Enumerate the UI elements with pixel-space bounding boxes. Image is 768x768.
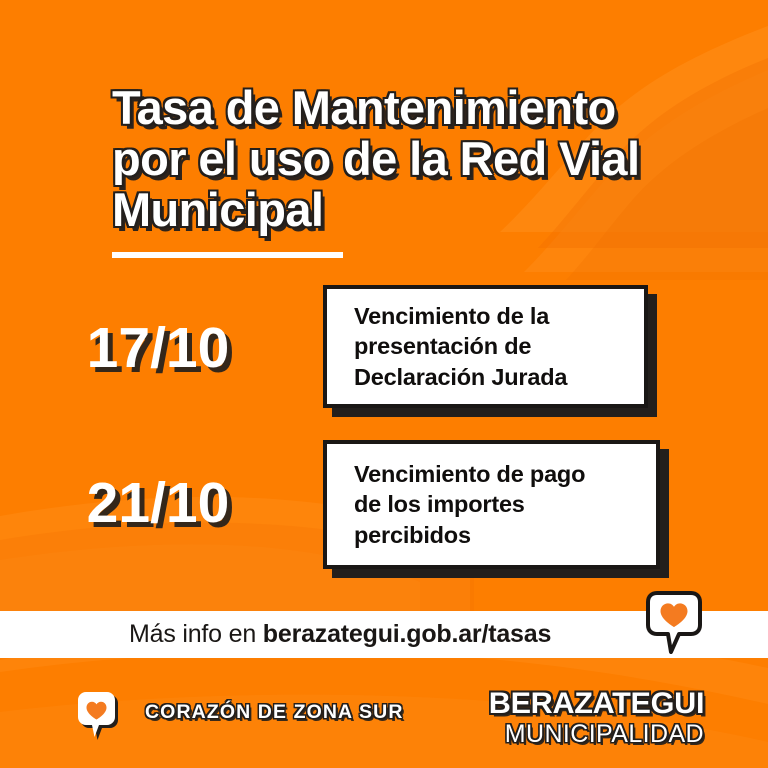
title-divider — [112, 252, 343, 258]
speech-bubble-heart-icon — [645, 591, 703, 654]
deadline-description-1: Vencimiento de la presentación de Declar… — [327, 301, 567, 393]
info-band-url[interactable]: berazategui.gob.ar/tasas — [263, 620, 551, 648]
info-band-prefix: Más info en — [129, 620, 263, 648]
info-band-text: Más info en berazategui.gob.ar/tasas — [129, 620, 551, 649]
deadline-box-2: Vencimiento de pago de los importes perc… — [323, 440, 660, 569]
deadline-date-1: 17/10 — [8, 315, 308, 381]
deadline-date-2: 21/10 — [8, 470, 308, 536]
brand-subtitle: MUNICIPALIDAD — [493, 722, 704, 747]
title-block: Tasa de Mantenimiento por el uso de la R… — [112, 82, 692, 236]
municipality-logo: BERAZATEGUI MUNICIPALIDAD — [493, 689, 704, 747]
deadline-box-1: Vencimiento de la presentación de Declar… — [323, 285, 648, 408]
deadline-description-2: Vencimiento de pago de los importes perc… — [327, 459, 585, 551]
brand-name: BERAZATEGUI — [489, 689, 704, 719]
footer-tagline: CORAZÓN DE ZONA SUR — [145, 701, 404, 724]
footer-speech-bubble-heart-icon — [78, 692, 118, 742]
poster-canvas: Tasa de Mantenimiento por el uso de la R… — [0, 0, 768, 768]
page-title: Tasa de Mantenimiento por el uso de la R… — [112, 82, 692, 236]
